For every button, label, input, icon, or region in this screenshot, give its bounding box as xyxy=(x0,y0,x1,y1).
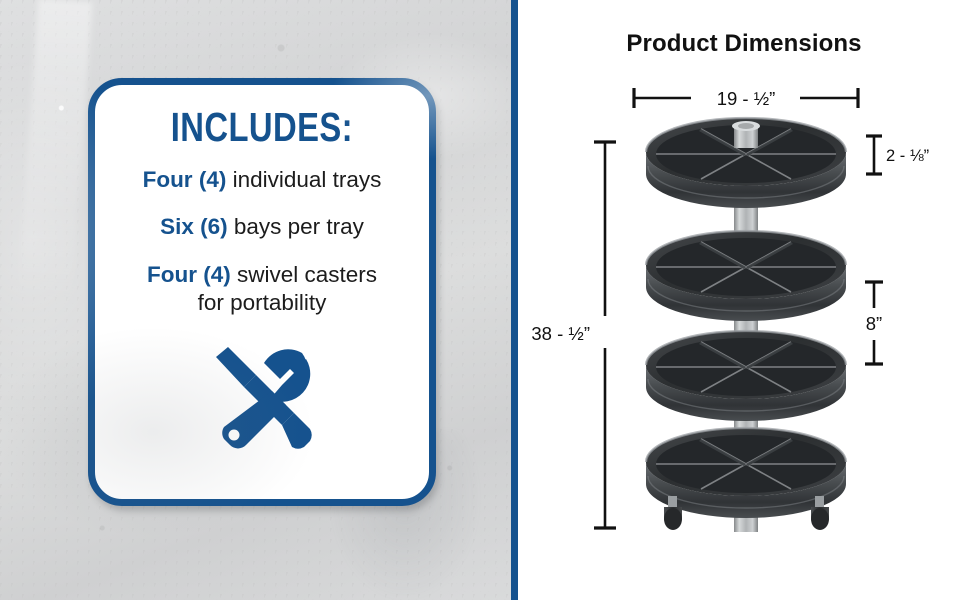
panel-divider xyxy=(511,0,518,600)
bullet-text-second-line: for portability xyxy=(198,290,327,315)
bullet-count: (4) xyxy=(199,167,227,192)
dimension-annotations: 19 - ½” 2 - ⅛” 8” xyxy=(518,0,970,600)
dimension-top-tray-depth: 2 - ⅛” xyxy=(866,136,929,174)
bullet-text: individual trays xyxy=(226,167,381,192)
wrench-screwdriver-icon xyxy=(198,341,326,449)
dimension-overall-width: 19 - ½” xyxy=(634,88,858,109)
list-item: Four (4) swivel casters for portability xyxy=(95,261,429,318)
includes-bullet-list: Four (4) individual trays Six (6) bays p… xyxy=(95,166,429,317)
dimension-label-tray-spacing: 8” xyxy=(866,313,882,334)
bullet-count: (4) xyxy=(203,262,231,287)
dimension-label-height: 38 - ½” xyxy=(531,323,590,344)
dimension-label-width: 19 - ½” xyxy=(717,88,776,109)
bullet-text: bays per tray xyxy=(228,214,364,239)
includes-heading: INCLUDES: xyxy=(171,107,353,148)
left-panel-wall-background: INCLUDES: Four (4) individual trays Six … xyxy=(0,0,511,600)
includes-card: INCLUDES: Four (4) individual trays Six … xyxy=(88,78,436,506)
bullet-lead-word: Four xyxy=(143,167,193,192)
dimension-tray-spacing: 8” xyxy=(865,282,883,364)
dimension-label-tray-depth: 2 - ⅛” xyxy=(886,147,929,165)
bullet-lead-word: Four xyxy=(147,262,197,287)
list-item: Four (4) individual trays xyxy=(95,166,429,194)
dimension-overall-height: 38 - ½” xyxy=(531,142,616,528)
list-item: Six (6) bays per tray xyxy=(95,213,429,241)
bullet-count: (6) xyxy=(200,214,228,239)
right-panel: Product Dimensions xyxy=(518,0,970,600)
bullet-lead-word: Six xyxy=(160,214,194,239)
bullet-text: swivel casters xyxy=(231,262,377,287)
infographic-canvas: INCLUDES: Four (4) individual trays Six … xyxy=(0,0,970,600)
wall-texture-streak xyxy=(18,0,93,302)
